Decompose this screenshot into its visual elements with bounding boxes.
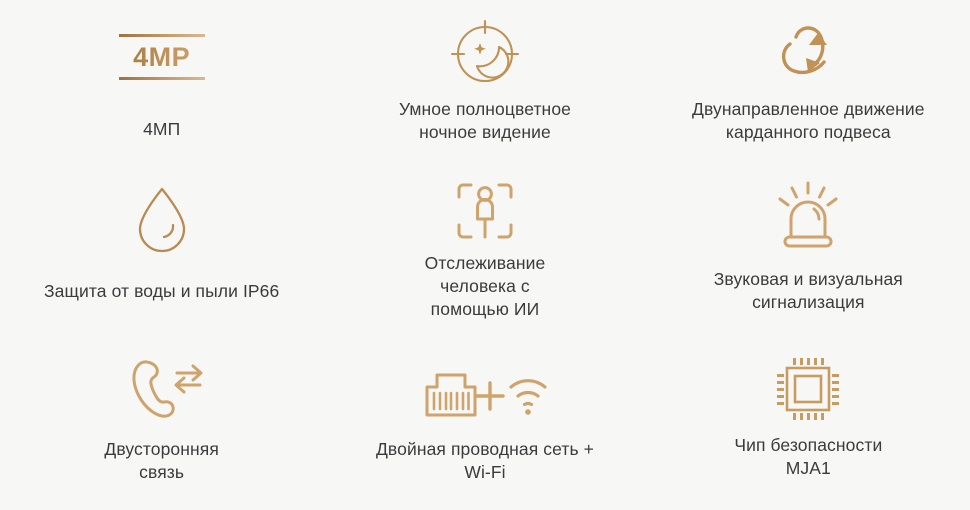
feature-label-gimbal-movement: Двунаправленное движение карданного подв…	[692, 98, 925, 144]
feature-card-gimbal-movement: Двунаправленное движение карданного подв…	[647, 0, 970, 170]
feature-card-alarm: Звуковая и визуальная сигнализация	[647, 170, 970, 340]
badge-rule-bottom	[119, 77, 205, 80]
feature-label-ip66: Защита от воды и пыли IP66	[44, 280, 279, 303]
siren-light-icon	[768, 178, 848, 256]
microchip-icon	[771, 350, 845, 428]
feature-card-two-way-audio: Двусторонняя связь	[0, 340, 323, 510]
feature-card-night-vision: Умное полноцветное ночное видение	[323, 0, 646, 170]
bidirectional-rotation-arrows-icon	[768, 14, 848, 92]
feature-label-security-chip: Чип безопасности MJA1	[734, 434, 882, 480]
feature-grid: 4MP 4МП Умное полноцветное ночное видени…	[0, 0, 970, 510]
feature-card-security-chip: Чип безопасности MJA1	[647, 340, 970, 510]
feature-card-resolution: 4MP 4МП	[0, 0, 323, 170]
4mp-badge-icon: 4MP	[119, 18, 205, 96]
person-detection-frame-icon	[447, 172, 523, 250]
feature-label-two-way-audio: Двусторонняя связь	[104, 438, 219, 484]
feature-label-alarm: Звуковая и визуальная сигнализация	[714, 268, 903, 314]
feature-card-ai-human-tracking: Отслеживание человека с помощью ИИ	[323, 170, 646, 340]
water-droplet-icon	[125, 180, 199, 258]
ethernet-port-plus-wifi-icon	[415, 354, 555, 432]
feature-label-resolution: 4МП	[143, 118, 180, 141]
feature-label-network: Двойная проводная сеть + Wi-Fi	[376, 438, 594, 484]
feature-label-night-vision: Умное полноцветное ночное видение	[399, 98, 571, 144]
moon-star-crosshair-icon	[445, 14, 525, 92]
badge-text: 4MP	[119, 37, 205, 77]
feature-label-ai-human-tracking: Отслеживание человека с помощью ИИ	[425, 252, 546, 321]
feature-card-network: Двойная проводная сеть + Wi-Fi	[323, 340, 646, 510]
phone-handset-exchange-icon	[116, 350, 208, 428]
feature-card-ip66: Защита от воды и пыли IP66	[0, 170, 323, 340]
